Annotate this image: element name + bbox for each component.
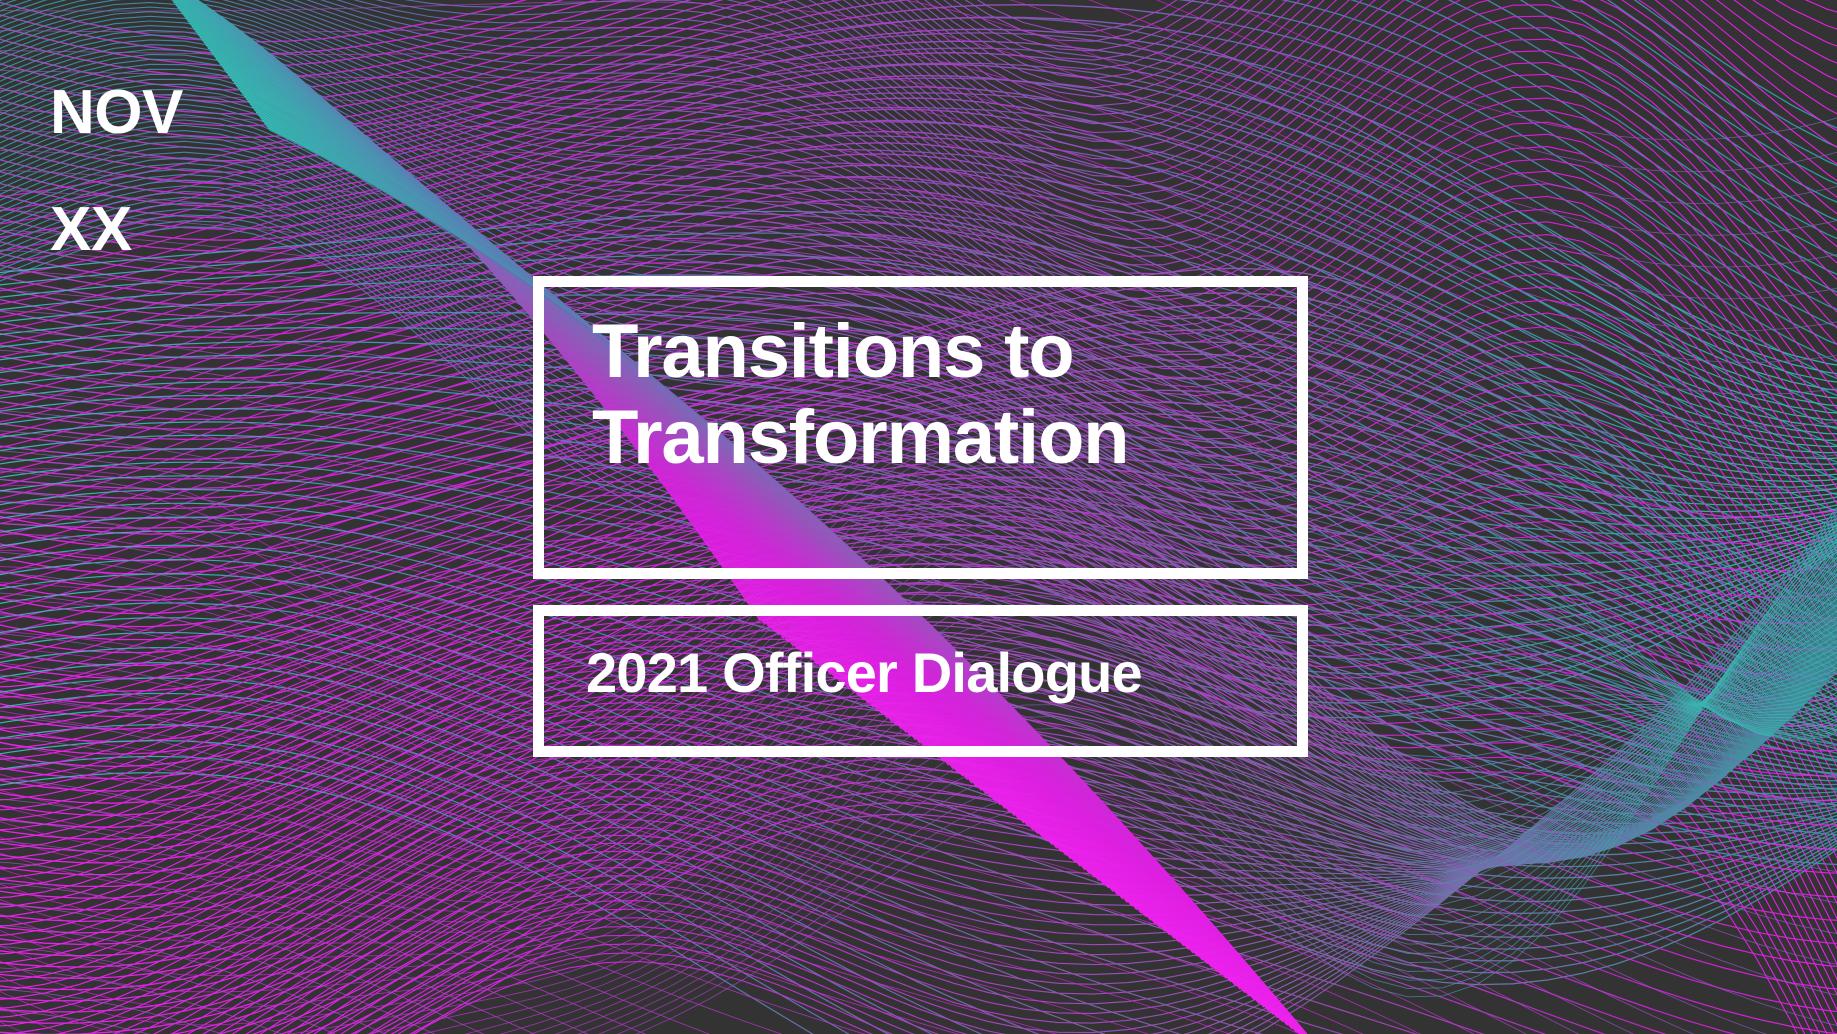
date-month: NOV [50, 84, 183, 142]
presentation-title-slide: NOV XX Transitions to Transformation 202… [0, 0, 1837, 1034]
page-title: Transitions to Transformation [592, 309, 1332, 481]
title-line-1: Transitions to [592, 309, 1073, 394]
page-subtitle: 2021 Officer Dialogue [586, 642, 1142, 704]
title-line-2: Transformation [592, 395, 1128, 480]
subtitle-frame: 2021 Officer Dialogue [533, 605, 1308, 757]
title-frame: Transitions to Transformation [533, 276, 1308, 579]
date-badge: NOV XX [50, 26, 183, 317]
date-day: XX [50, 201, 183, 259]
